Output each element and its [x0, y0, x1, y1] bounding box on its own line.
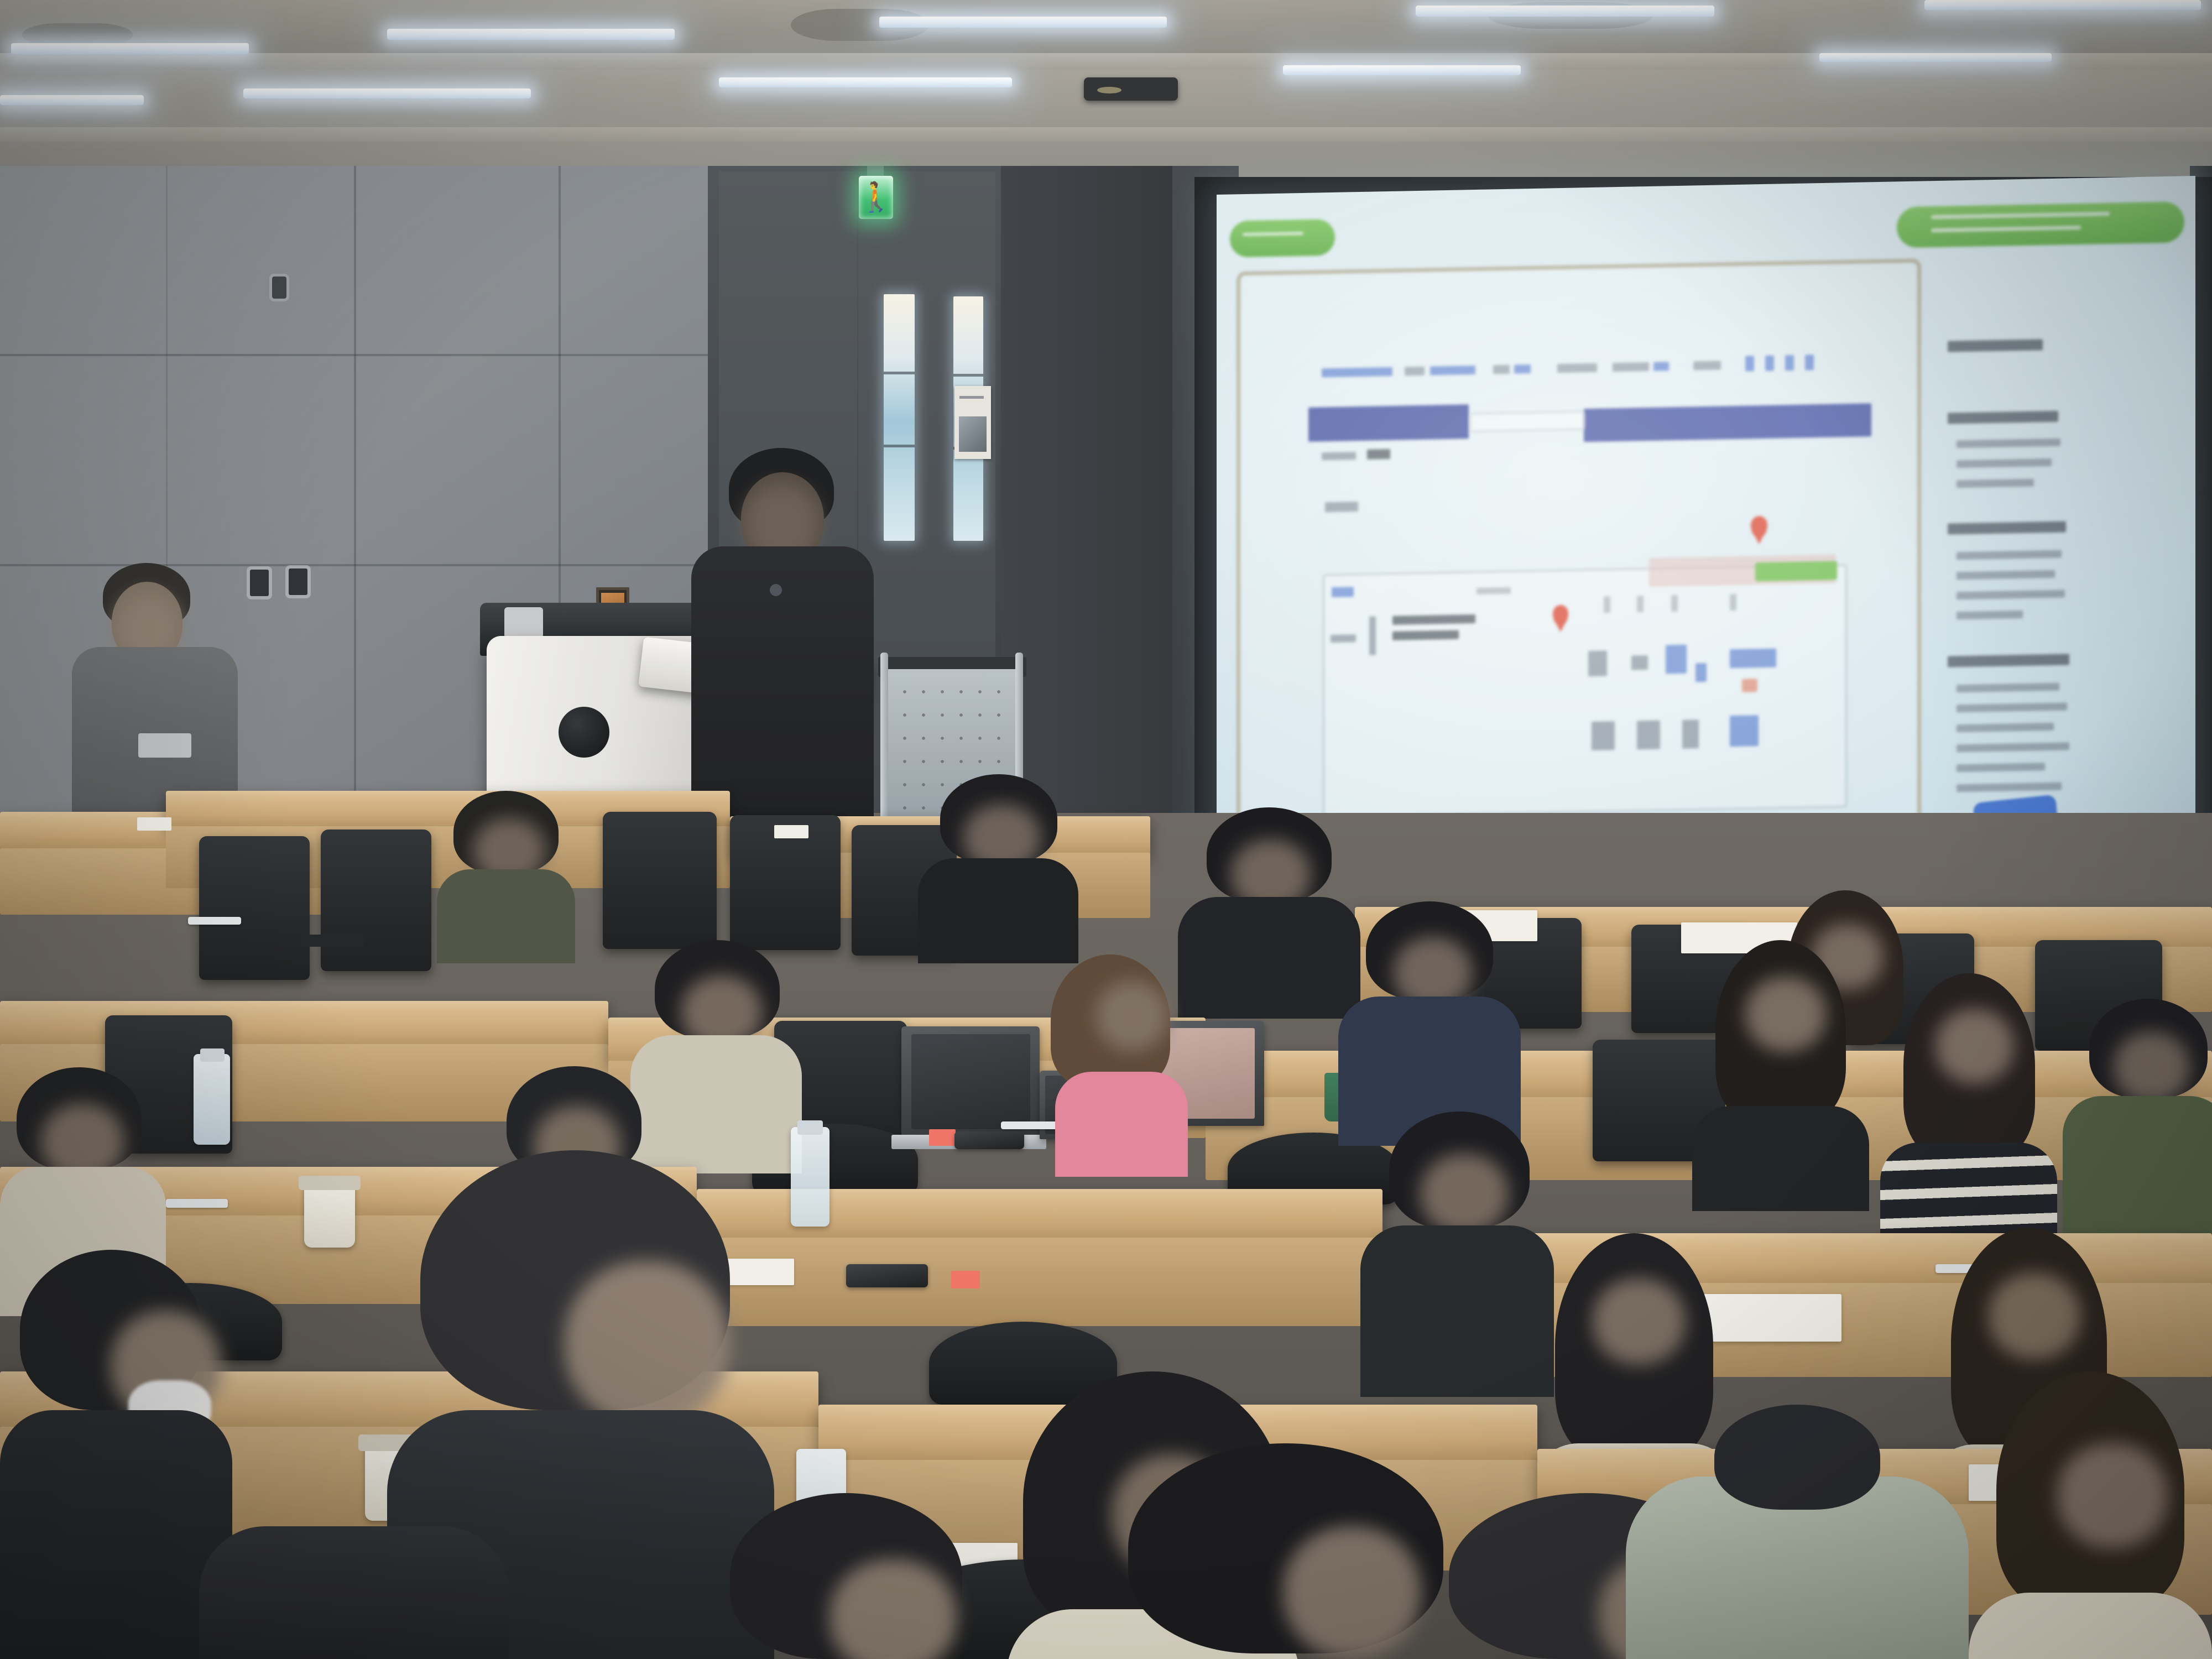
slide-card-col-a [1604, 596, 1610, 613]
lecture-hall-photo: 🚶 [0, 0, 2212, 1659]
slide-right-heading [1948, 339, 2043, 352]
wall-outlet-1 [250, 570, 269, 596]
form-tie-hole-1 [272, 276, 286, 299]
strip-light-1 [11, 43, 249, 54]
slide-right-sec1-line1 [1957, 439, 2060, 448]
slide-card-label-1 [1331, 634, 1356, 643]
strip-light-6 [0, 95, 144, 105]
podium-tab [504, 607, 543, 638]
strip-light-9 [1283, 65, 1521, 75]
sticky-note-2 [951, 1271, 980, 1288]
door-notice [954, 386, 991, 459]
slide-right-sec1-title [1948, 411, 2058, 424]
slide-right-sec3-line1 [1957, 683, 2059, 693]
water-bottle-2 [194, 1054, 230, 1145]
chair-2[interactable] [321, 830, 431, 971]
attendee-2-3 [1338, 901, 1521, 1134]
coffee-cup-2 [304, 1183, 355, 1248]
wall-outlet-2 [289, 568, 307, 595]
slide-card-box-4 [1695, 663, 1707, 682]
slide-nav-8 [1653, 362, 1669, 371]
slide-right-sec1-line2 [1957, 458, 2052, 468]
slide-card-text-2 [1392, 630, 1459, 640]
exit-sign: 🚶 [859, 176, 893, 219]
door-vision-panel-left [884, 294, 915, 541]
slide-nav-5 [1514, 364, 1531, 374]
attendee-fg-9 [199, 1493, 509, 1659]
slide-right-sec3-title [1948, 654, 2069, 667]
desk-microphone-1 [188, 917, 241, 925]
running-person-icon: 🚶 [858, 183, 894, 212]
desk-row-2-left [0, 1001, 608, 1048]
coffee-cup-lid-2 [299, 1176, 361, 1190]
presenter-badge [770, 584, 782, 596]
ceiling-beam-2 [0, 127, 2212, 142]
attendee-fg-7 [1969, 1371, 2212, 1659]
podium-knob-icon[interactable] [559, 707, 609, 758]
slide-card-button [1730, 649, 1776, 669]
attendee-far-1 [437, 791, 575, 957]
attendee-fg-8 [708, 1493, 995, 1659]
slide-card-col-c [1671, 595, 1678, 612]
attendee-fg-6 [1626, 1405, 1969, 1659]
slide-card-chip [1742, 679, 1757, 692]
chair-1[interactable] [199, 836, 310, 980]
slide-subrow-1 [1322, 452, 1356, 460]
slide-card-col-b [1637, 596, 1644, 612]
attendee-2-6 [2063, 999, 2212, 1242]
slide-right-sec3-line6 [1957, 782, 2062, 792]
strip-light-10 [1819, 53, 2052, 62]
chair-3[interactable] [603, 812, 717, 949]
seat-label-1 [137, 817, 171, 831]
slide-green-button [1755, 561, 1837, 581]
slide-navy-bar-2 [1584, 403, 1871, 442]
bottle-cap-1 [797, 1120, 823, 1135]
attendee-2-5 [1880, 973, 2057, 1233]
slide-nav-4 [1493, 365, 1510, 374]
slide-subrow-3 [1325, 502, 1358, 512]
bottle-cap-2 [200, 1048, 225, 1062]
slide-card-box-3 [1666, 645, 1687, 674]
slide-card-colhead-1 [1477, 587, 1511, 594]
slide-subrow-2 [1367, 449, 1390, 460]
slide-nav-1 [1322, 367, 1392, 377]
slide-nav-9 [1693, 361, 1721, 370]
slide-card-box-2 [1631, 655, 1648, 670]
strip-light-7 [243, 88, 531, 98]
phone-1[interactable] [954, 1131, 1024, 1149]
slide-card-divider [1369, 616, 1376, 655]
seat-label-2 [774, 825, 808, 838]
phone-2[interactable] [846, 1264, 928, 1287]
attendee-2-2 [1029, 954, 1189, 1154]
attendee-2-4 [1692, 940, 1869, 1194]
slide-right-sec2-line3 [1957, 590, 2065, 600]
slide-card-icon-4 [1730, 715, 1759, 747]
laptop-1[interactable] [901, 1026, 1040, 1137]
slide-right-sec3-line5 [1957, 763, 2045, 772]
slide-nav-13 [1805, 354, 1814, 370]
slide-tag-left [1230, 219, 1335, 258]
slide-right-sec3-line3 [1957, 723, 2054, 732]
attendee-far-2 [918, 774, 1078, 957]
strip-light-3 [879, 17, 1167, 28]
attendee-fg-1 [0, 1250, 232, 1659]
slide-right-sec2-line2 [1957, 570, 2055, 580]
strip-light-8 [719, 77, 1012, 87]
water-bottle-1 [791, 1127, 830, 1227]
slide-navy-bar-1 [1308, 404, 1469, 442]
slide-nav-7 [1613, 362, 1649, 372]
wall-seam-v1 [354, 166, 356, 863]
slide-nav-11 [1765, 356, 1774, 371]
slide-card-icon-2 [1637, 721, 1660, 750]
slide-right-sec3-line4 [1957, 742, 2069, 752]
slide-right-sec3-line2 [1957, 702, 2067, 712]
slide-embedded-card [1323, 564, 1847, 817]
sticky-note-1 [929, 1129, 956, 1146]
attendee-3-3 [1360, 1112, 1554, 1388]
slide-card-col-d [1730, 594, 1736, 611]
slide-input-field [1470, 411, 1585, 432]
slide-card-tab [1332, 587, 1354, 597]
slide-right-sec2-line4 [1957, 611, 2023, 619]
chair-arm-1 [299, 935, 365, 947]
strip-light-5 [1924, 0, 2201, 10]
name-badge [138, 733, 191, 758]
slide-right-sec1-line3 [1957, 479, 2034, 488]
strip-light-2 [387, 29, 675, 40]
slide-right-sec2-title [1948, 521, 2066, 535]
desk-front-3-center [697, 1238, 1383, 1326]
slide-card-icon-3 [1682, 719, 1699, 749]
ceiling-speaker-icon [1084, 77, 1178, 101]
slide-right-sec2-line1 [1957, 550, 2062, 560]
slide-card-text-1 [1392, 614, 1475, 625]
slide-nav-6 [1557, 363, 1597, 373]
slide-nav-2 [1405, 367, 1425, 376]
strip-light-4 [1416, 6, 1714, 17]
attendee-far-3 [1178, 807, 1360, 1006]
slide-nav-10 [1745, 356, 1754, 371]
desk-microphone-4 [166, 1199, 228, 1208]
slide-nav-3 [1430, 366, 1475, 375]
slide-card-box-1 [1588, 650, 1607, 676]
slide-banner-right [1897, 201, 2184, 248]
slide-card-icon-1 [1592, 721, 1615, 750]
slide-nav-12 [1785, 355, 1794, 371]
wall-seam-h1 [0, 354, 735, 356]
